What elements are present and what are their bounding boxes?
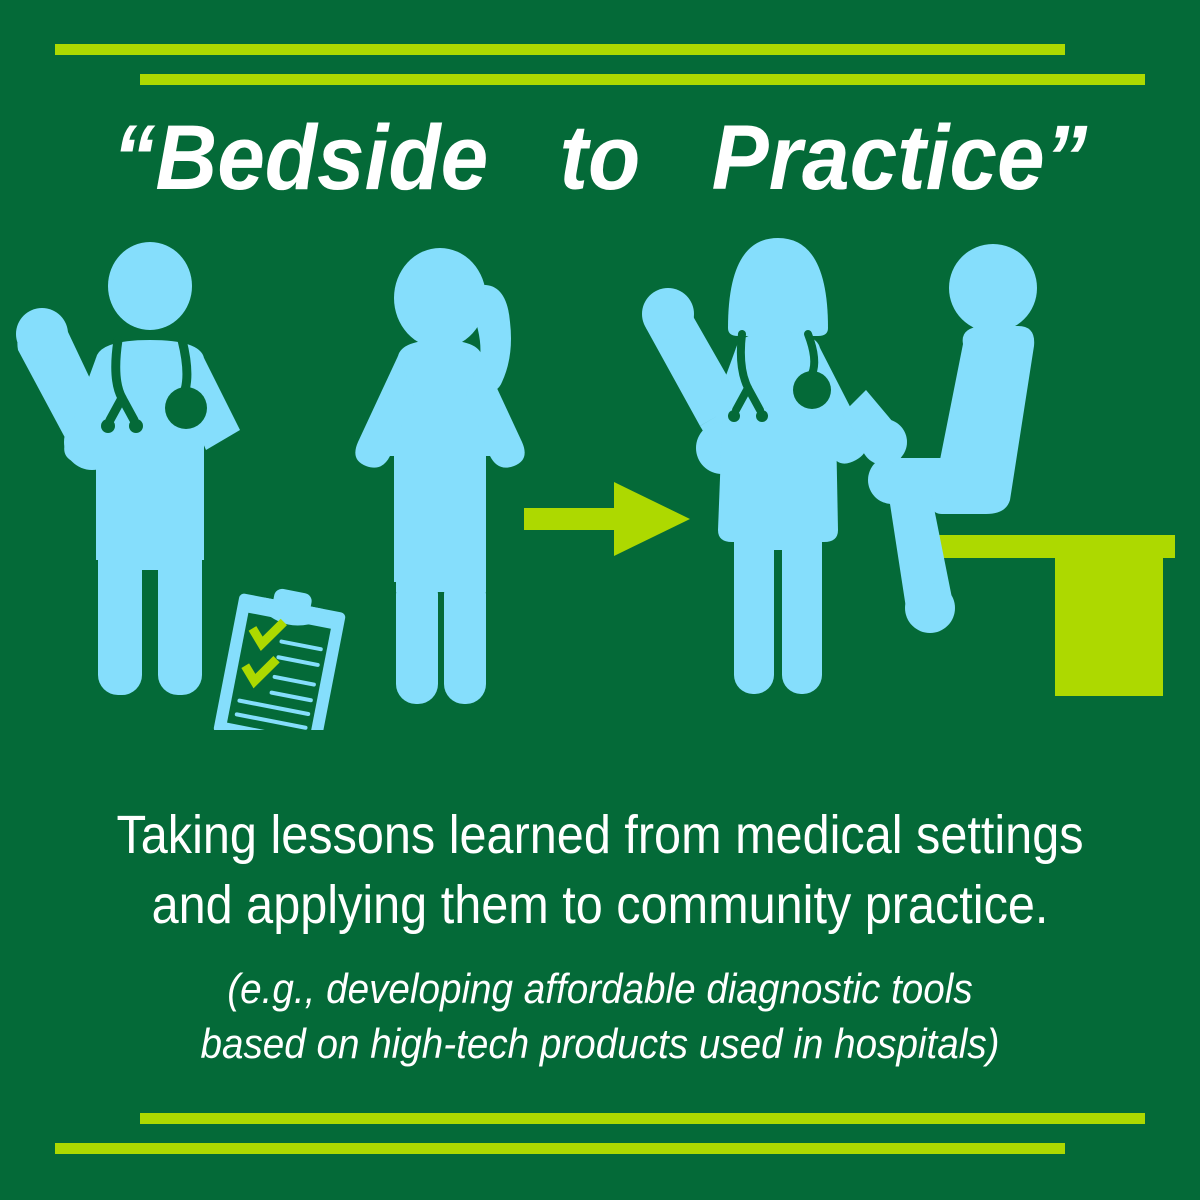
exam-table-base	[1055, 550, 1163, 696]
top-rule-2	[140, 74, 1145, 85]
top-rule-1	[55, 44, 1065, 55]
worker-leg-right	[782, 530, 822, 694]
clipboard	[213, 581, 348, 730]
caption-text: (e.g., developing affordable diagnostic …	[48, 962, 1152, 1071]
body-line-2: and applying them to community practice.	[60, 870, 1140, 940]
bottom-rule-1	[140, 1113, 1145, 1124]
figure-patient-seated	[842, 244, 1037, 633]
patient-leg-right	[444, 574, 486, 704]
bottom-rule-2	[55, 1143, 1065, 1154]
patient-head	[394, 248, 486, 348]
worker-cap-head	[728, 238, 828, 336]
worker-leg-left	[734, 530, 774, 694]
exam-table	[928, 535, 1175, 696]
page-title: “Bedside to Practice”	[42, 112, 1158, 204]
doctor-leg-left	[98, 550, 142, 695]
illustration	[0, 230, 1200, 730]
stethoscope-chestpiece	[165, 387, 207, 429]
body-text: Taking lessons learned from medical sett…	[60, 800, 1140, 940]
caption-line-2: based on high-tech products used in hosp…	[48, 1017, 1152, 1072]
slide-canvas: “Bedside to Practice”	[0, 0, 1200, 1200]
doctor-leg-right	[158, 550, 202, 695]
figure-doctor-with-clipboard	[16, 242, 348, 730]
transition-arrow-icon	[524, 482, 690, 556]
figure-community-health-worker	[642, 238, 867, 694]
patient-leg-left	[396, 574, 438, 704]
caption-line-1: (e.g., developing affordable diagnostic …	[48, 962, 1152, 1017]
figure-patient-standing	[355, 248, 524, 704]
body-line-1: Taking lessons learned from medical sett…	[60, 800, 1140, 870]
